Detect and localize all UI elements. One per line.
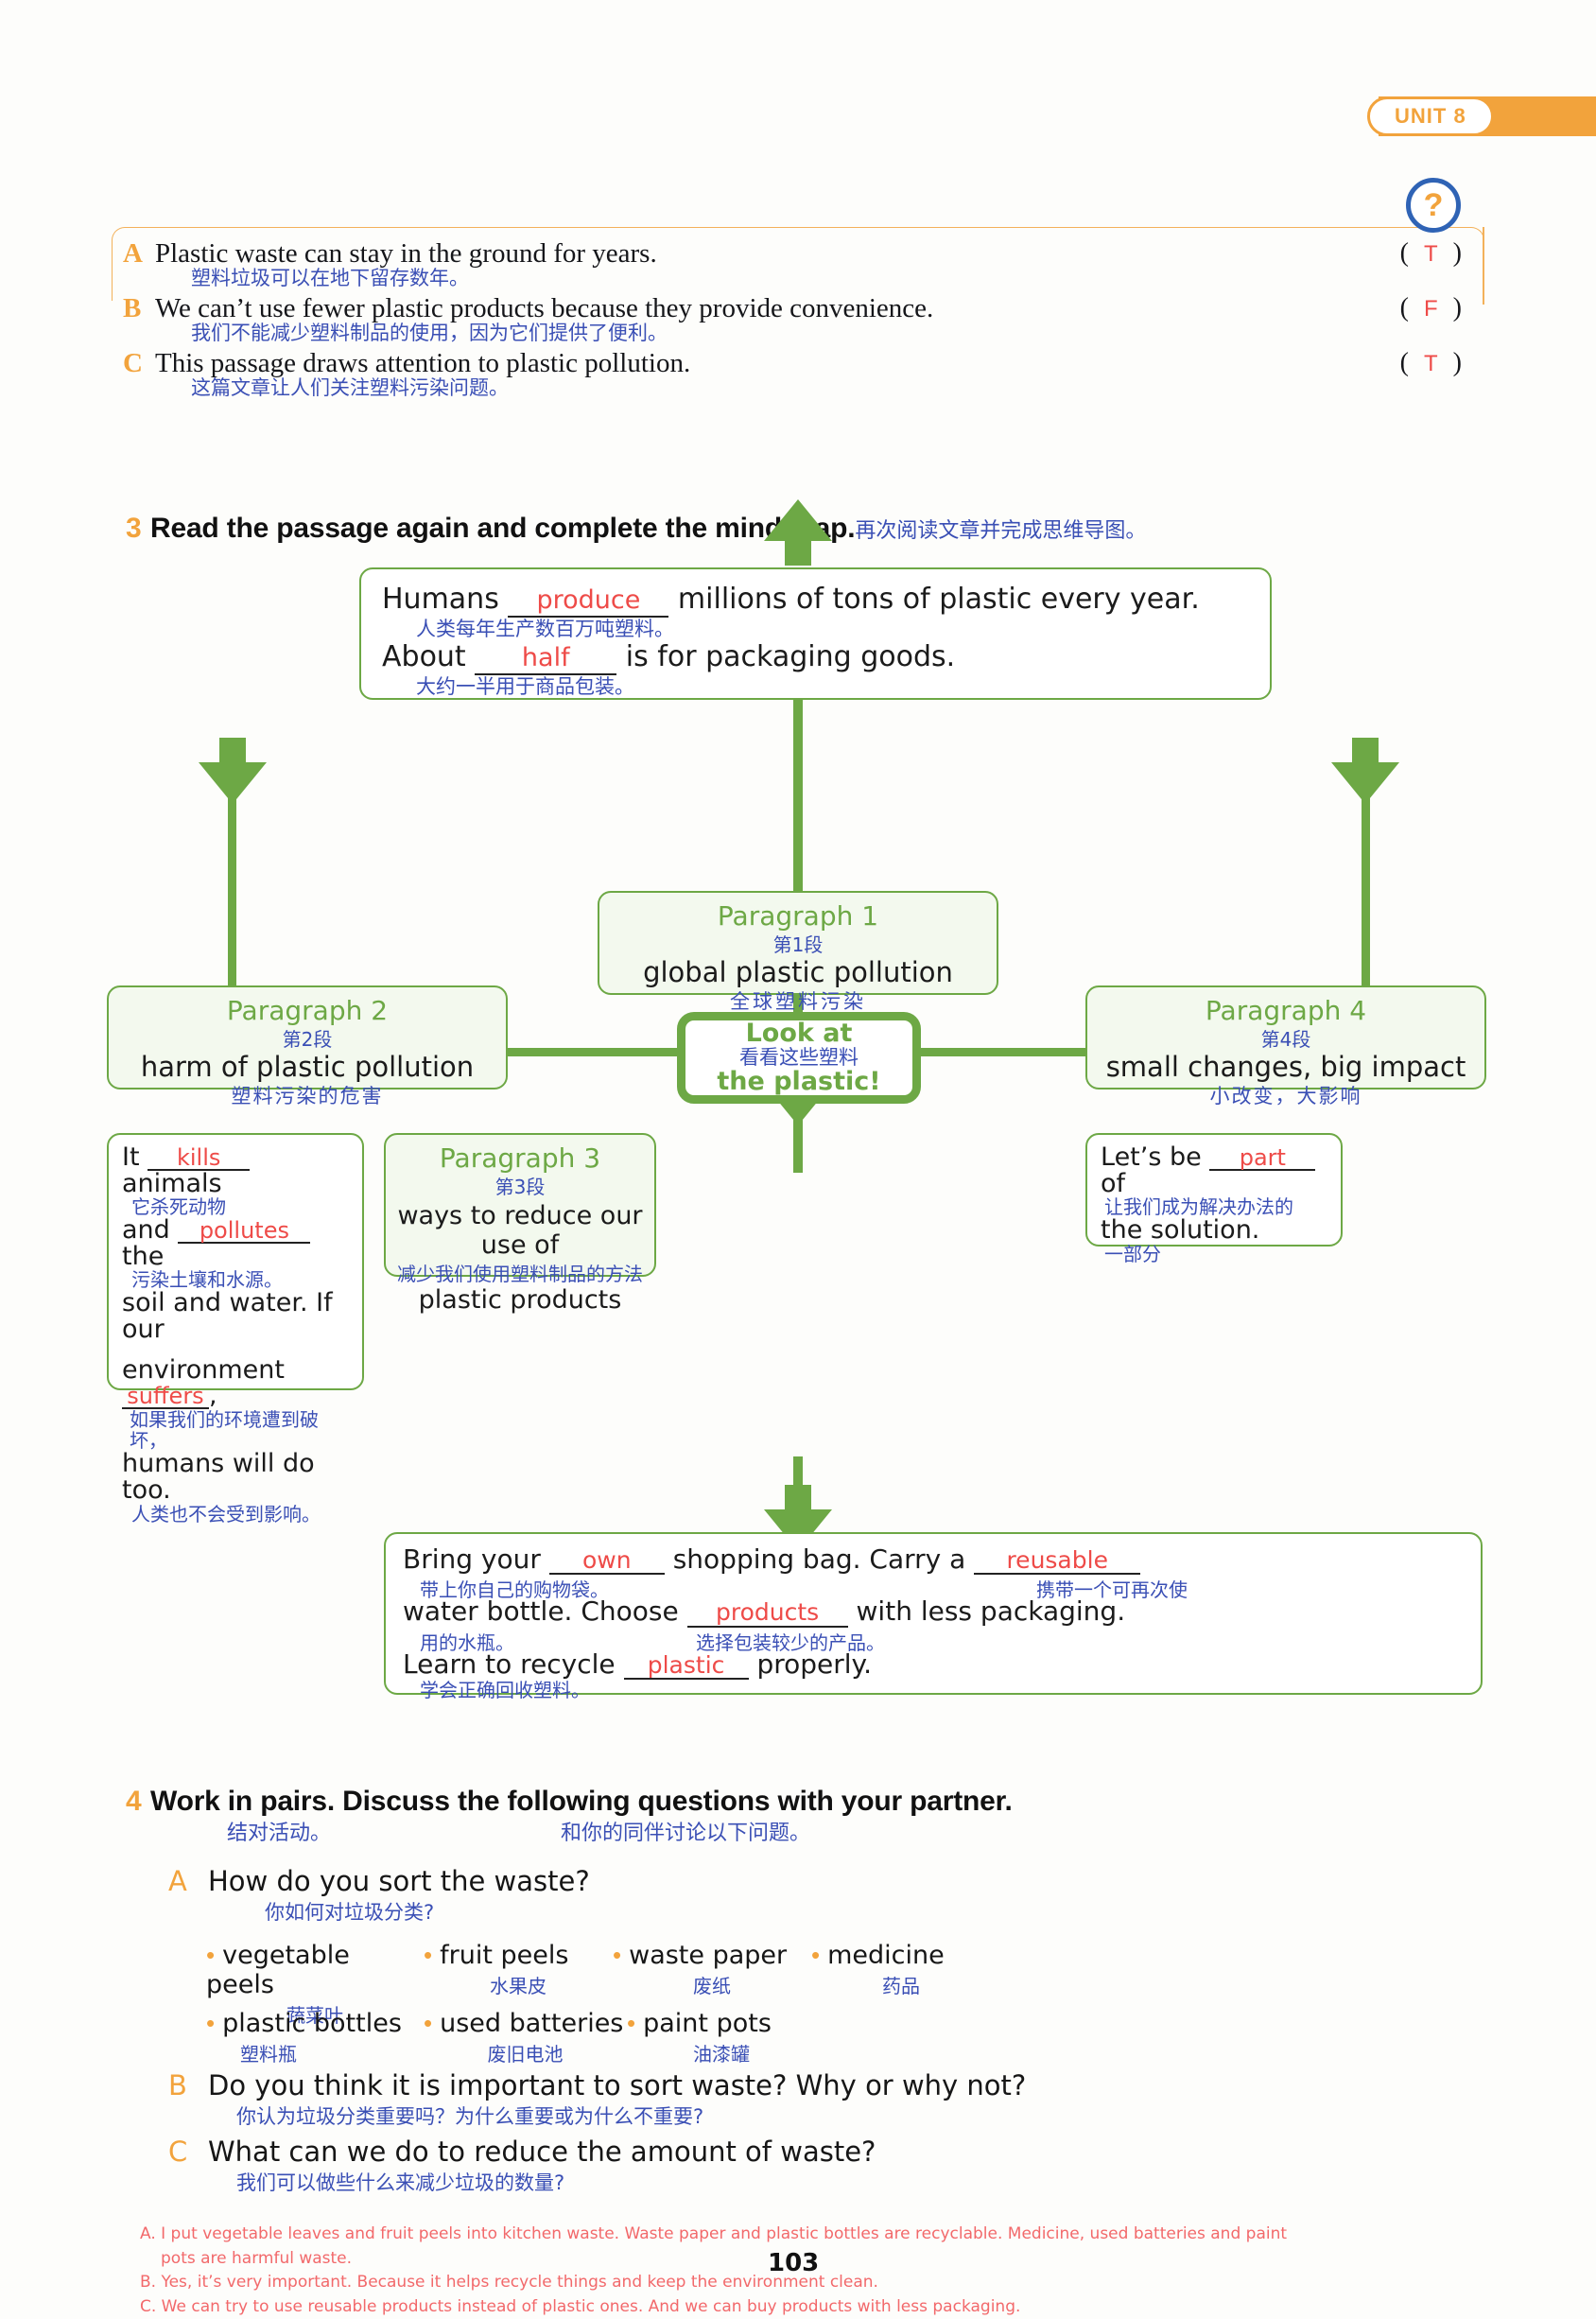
list-item: A Plastic waste can stay in the ground f… [123,238,1484,289]
list-item[interactable]: •used batteries 废旧电池 [424,2009,627,2066]
question-chinese: 我们可以做些什么来减少垃圾的数量? [236,2168,1397,2196]
bullet-dot-icon: • [613,1941,621,1969]
item-letter: B [123,293,155,324]
page-number: 103 [768,2249,819,2277]
p1-text: global plastic pollution [599,956,997,988]
paren-close: ) [1453,348,1462,377]
mind-map: Humans produce millions of tons of plast… [0,586,1596,1750]
answer-a-line2: pots are harmful waste. [161,2247,1492,2272]
right-text-a: Let’s be [1101,1142,1202,1172]
top-text-d: is for packaging goods. [626,640,955,673]
top-text-c: About [382,640,466,673]
left-text-g: humans will do too. [122,1451,349,1505]
blank-part[interactable]: part [1209,1146,1315,1171]
question-letter: B [168,2069,187,2101]
p3-title: Paragraph 3 [386,1142,654,1174]
item-chinese: 这篇文章让人们关注塑料污染问题。 [191,377,1484,399]
question-chinese: 你如何对垃圾分类? [265,1897,1397,1926]
center-line1: Look at [746,1019,853,1048]
bullet-dot-icon: • [206,1941,215,1969]
question-english: How do you sort the waste? [208,1865,1397,1897]
exercise-title-chinese: 再次阅读文章并完成思维导图。 [855,514,1146,544]
answer-value: T [1409,351,1453,376]
p2-text: harm of plastic pollution [109,1051,506,1083]
arrow-down-to-right-box [1329,738,1401,804]
left-chinese-1: 它杀死动物 [131,1196,349,1217]
paren-open: ( [1400,293,1409,323]
arrow-down-to-left-box [197,738,269,804]
blank-reusable[interactable]: reusable [974,1548,1140,1575]
center-chinese: 看看这些塑料 [717,1047,880,1068]
left-text-e: soil and water. If our [122,1290,349,1344]
answer-c: C. We can try to use reusable products i… [140,2295,1492,2319]
bullet-english: paint pots [643,2009,772,2038]
blank-suffers[interactable]: suffers [122,1385,209,1409]
left-text-d: the [122,1242,164,1271]
bullet-dot-icon: • [206,2009,215,2037]
p2-title: Paragraph 2 [109,995,506,1026]
center-line2: the plastic! [717,1067,880,1096]
exercise-3-heading: 3 Read the passage again and complete th… [126,513,1146,545]
left-text-f: environment [122,1355,285,1385]
right-text-b: of [1101,1169,1125,1198]
top-text-a: Humans [382,583,499,616]
mindmap-paragraph-4-box: Paragraph 4 第4段 small changes, big impac… [1085,985,1486,1090]
left-text-c: and [122,1215,170,1245]
right-chinese-2: 一部分 [1104,1244,1327,1264]
question-mark-icon[interactable]: ? [1406,178,1461,233]
unit-label: UNIT 8 [1367,96,1494,136]
answer-value: F [1409,296,1453,322]
left-text-b: animals [122,1169,222,1198]
item-letter: A [123,238,155,270]
arrow-up-to-top-box [762,499,834,566]
item-chinese: 我们不能减少塑料制品的使用，因为它们提供了便利。 [191,323,1484,344]
mindmap-right-detail-box: Let’s be part of 让我们成为解决办法的 the solution… [1085,1133,1343,1247]
bottom-text-a: Bring your [403,1543,541,1575]
unit-banner: UNIT 8 [1379,96,1596,136]
bottom-chinese-2b: 选择包装较少的产品。 [696,1628,885,1655]
blank-pollutes[interactable]: pollutes [178,1219,310,1244]
left-chinese-4: 人类也不会受到影响。 [131,1504,349,1525]
question-letter: A [168,1865,187,1897]
item-english: We can’t use fewer plastic products beca… [155,293,933,324]
list-item: C This passage draws attention to plasti… [123,348,1484,399]
mindmap-top-box: Humans produce millions of tons of plast… [359,567,1272,700]
mindmap-paragraph-2-box: Paragraph 2 第2段 harm of plastic pollutio… [107,985,508,1090]
list-item[interactable]: •medicine 药品 [811,1941,991,2028]
question-letter: C [168,2136,187,2168]
question-english: Do you think it is important to sort was… [208,2069,1397,2101]
answer-value: T [1409,241,1453,267]
p4-text: small changes, big impact [1087,1051,1484,1083]
bullet-chinese: 水果皮 [424,1971,613,1998]
p4-title-chinese: 第4段 [1087,1024,1484,1052]
waste-bullets-row-2: •plastic bottles 塑料瓶 •used batteries 废旧电… [206,2009,816,2066]
mindmap-paragraph-3-box: Paragraph 3 第3段 ways to reduce our use o… [384,1133,656,1277]
item-letter: C [123,348,155,379]
item-english: This passage draws attention to plastic … [155,348,690,379]
question-item-a: A How do you sort the waste? 你如何对垃圾分类? [168,1865,1397,1926]
bullet-dot-icon: • [424,2009,432,2037]
bullet-english: waste paper [629,1941,787,1970]
bullet-chinese: 塑料瓶 [240,2039,424,2066]
blank-half[interactable]: half [475,643,616,675]
top-text-b: millions of tons of plastic every year. [678,583,1200,616]
exercise-title: Work in pairs. Discuss the following que… [150,1786,1013,1818]
bullet-chinese: 药品 [811,1971,991,1998]
exercise-number: 3 [126,513,150,545]
question-item-c: C What can we do to reduce the amount of… [168,2136,1397,2196]
p1-chinese: 全球塑料污染 [599,986,997,1015]
bullet-dot-icon: • [424,1941,432,1969]
right-text-c: the solution. [1101,1217,1327,1244]
right-chinese-1: 让我们成为解决办法的 [1104,1196,1327,1217]
p3-text-2: plastic products [386,1285,654,1315]
bullet-chinese: 废旧电池 [424,2039,627,2066]
paren-close: ) [1453,293,1462,323]
answer-a-line1: A. I put vegetable leaves and fruit peel… [140,2223,1492,2247]
p3-text-1: ways to reduce our use of [386,1201,654,1260]
p1-title-chinese: 第1段 [599,930,997,957]
bottom-chinese-1b: 携带一个可再次使 [1036,1575,1188,1602]
truefalse-list: A Plastic waste can stay in the ground f… [123,238,1484,399]
answer-slot[interactable]: (T) [1400,238,1462,269]
p3-chinese: 减少我们使用塑料制品的方法 [386,1259,654,1286]
bottom-chinese-3: 学会正确回收塑料。 [420,1680,1464,1700]
exercise-number: 4 [126,1786,150,1818]
bullet-chinese: 油漆罐 [627,2039,816,2066]
bullet-english: plastic bottles [222,2009,402,2038]
p2-chinese: 塑料污染的危害 [109,1081,506,1109]
p1-title: Paragraph 1 [599,900,997,932]
blank-products[interactable]: products [687,1600,848,1627]
p2-title-chinese: 第2段 [109,1024,506,1052]
p3-title-chinese: 第3段 [386,1172,654,1199]
bullet-dot-icon: • [627,2009,635,2037]
mindmap-paragraph-1-box: Paragraph 1 第1段 global plastic pollution… [598,891,998,995]
bullet-chinese: 废纸 [613,1971,811,1998]
list-item[interactable]: •plastic bottles 塑料瓶 [206,2009,424,2066]
bullet-english: used batteries [440,2009,623,2038]
exercise-4-chinese-a: 结对活动。 [227,1816,331,1846]
bullet-dot-icon: • [811,1941,820,1969]
bottom-text-b: shopping bag. Carry a [673,1543,966,1575]
exercise-title: Read the passage again and complete the … [150,513,855,545]
left-comma: , [209,1381,217,1410]
top-chinese-2: 大约一半用于商品包装。 [416,676,1249,698]
p4-title: Paragraph 4 [1087,995,1484,1026]
bottom-chinese-2a: 用的水瓶。 [420,1628,514,1655]
paren-close: ) [1453,238,1462,268]
bullet-english: vegetable peels [206,1941,350,1999]
blank-plastic[interactable]: plastic [624,1653,749,1680]
mindmap-bottom-box: Bring your own shopping bag. Carry a reu… [384,1532,1483,1695]
question-chinese: 你认为垃圾分类重要吗？为什么重要或为什么不重要? [236,2101,1397,2130]
paren-open: ( [1400,238,1409,268]
list-item[interactable]: •paint pots 油漆罐 [627,2009,816,2066]
mindmap-center-node: Look at 看看这些塑料 the plastic! [677,1012,921,1104]
item-english: Plastic waste can stay in the ground for… [155,238,657,270]
bottom-chinese-1a: 带上你自己的购物袋。 [420,1575,609,1602]
mindmap-left-detail-box: It kills animals 它杀死动物 and pollutes the … [107,1133,364,1390]
exercise-4-heading: 4 Work in pairs. Discuss the following q… [126,1786,1013,1818]
left-text-a: It [122,1142,140,1172]
answer-slot[interactable]: (F) [1400,293,1462,323]
question-item-b: B Do you think it is important to sort w… [168,2069,1397,2130]
blank-own[interactable]: own [549,1548,665,1575]
question-english: What can we do to reduce the amount of w… [208,2136,1397,2168]
item-chinese: 塑料垃圾可以在地下留存数年。 [191,268,1484,289]
exercise-4-chinese-b: 和你的同伴讨论以下问题。 [561,1816,810,1846]
left-chinese-2: 污染土壤和水源。 [131,1269,349,1290]
top-chinese-1: 人类每年生产数百万吨塑料。 [416,619,1249,640]
p4-chinese: 小改变，大影响 [1087,1081,1484,1109]
paren-open: ( [1400,348,1409,377]
bullet-english: medicine [827,1941,945,1970]
blank-produce[interactable]: produce [508,585,668,618]
answer-slot[interactable]: (T) [1400,348,1462,378]
bullet-english: fruit peels [440,1941,568,1970]
blank-kills[interactable]: kills [147,1146,250,1171]
left-chinese-3: 如果我们的环境遭到破坏， [130,1409,349,1451]
list-item: B We can’t use fewer plastic products be… [123,293,1484,344]
